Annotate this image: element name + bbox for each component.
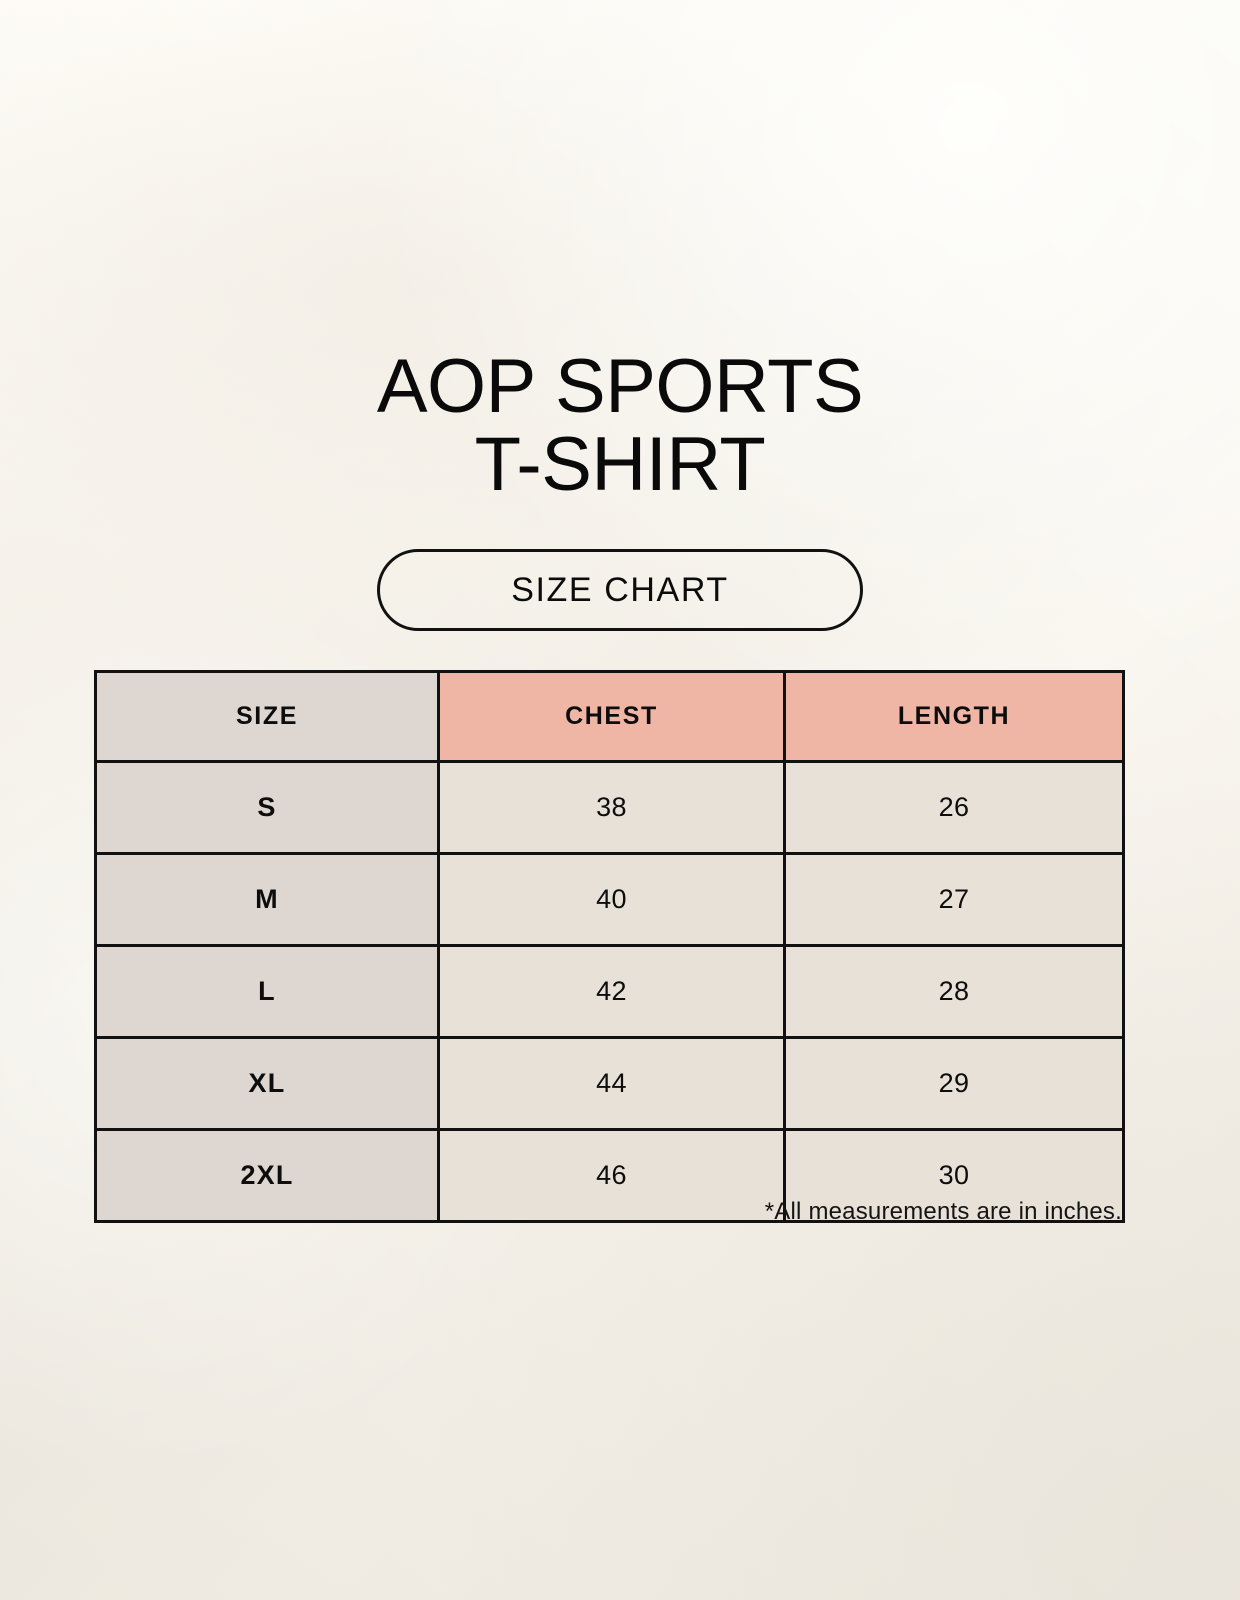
table-header-row: SIZE CHEST LENGTH: [96, 672, 1124, 762]
table-row: M 40 27: [96, 854, 1124, 946]
size-table-head: SIZE CHEST LENGTH: [96, 672, 1124, 762]
cell-length: 29: [785, 1038, 1124, 1130]
size-table: SIZE CHEST LENGTH S 38 26 M 40 27: [94, 670, 1125, 1223]
size-table-wrap: SIZE CHEST LENGTH S 38 26 M 40 27: [94, 670, 1122, 1223]
cell-length: 27: [785, 854, 1124, 946]
table-row: L 42 28: [96, 946, 1124, 1038]
size-chart-badge: SIZE CHART: [377, 549, 863, 631]
size-table-body: S 38 26 M 40 27 L 42 28 XL: [96, 762, 1124, 1222]
cell-size: L: [96, 946, 439, 1038]
column-header-chest: CHEST: [439, 672, 785, 762]
table-row: S 38 26: [96, 762, 1124, 854]
size-chart-page: AOP SPORTS T-SHIRT SIZE CHART SIZE CHEST…: [0, 0, 1240, 1600]
cell-chest: 42: [439, 946, 785, 1038]
cell-chest: 40: [439, 854, 785, 946]
size-chart-badge-wrap: SIZE CHART: [0, 549, 1240, 631]
cell-size: S: [96, 762, 439, 854]
page-title: AOP SPORTS T-SHIRT: [0, 348, 1240, 504]
cell-chest: 38: [439, 762, 785, 854]
cell-chest: 44: [439, 1038, 785, 1130]
cell-size: XL: [96, 1038, 439, 1130]
cell-length: 28: [785, 946, 1124, 1038]
cell-size: M: [96, 854, 439, 946]
measurements-footnote: *All measurements are in inches.: [94, 1198, 1122, 1226]
column-header-size: SIZE: [96, 672, 439, 762]
table-row: XL 44 29: [96, 1038, 1124, 1130]
column-header-length: LENGTH: [785, 672, 1124, 762]
cell-length: 26: [785, 762, 1124, 854]
